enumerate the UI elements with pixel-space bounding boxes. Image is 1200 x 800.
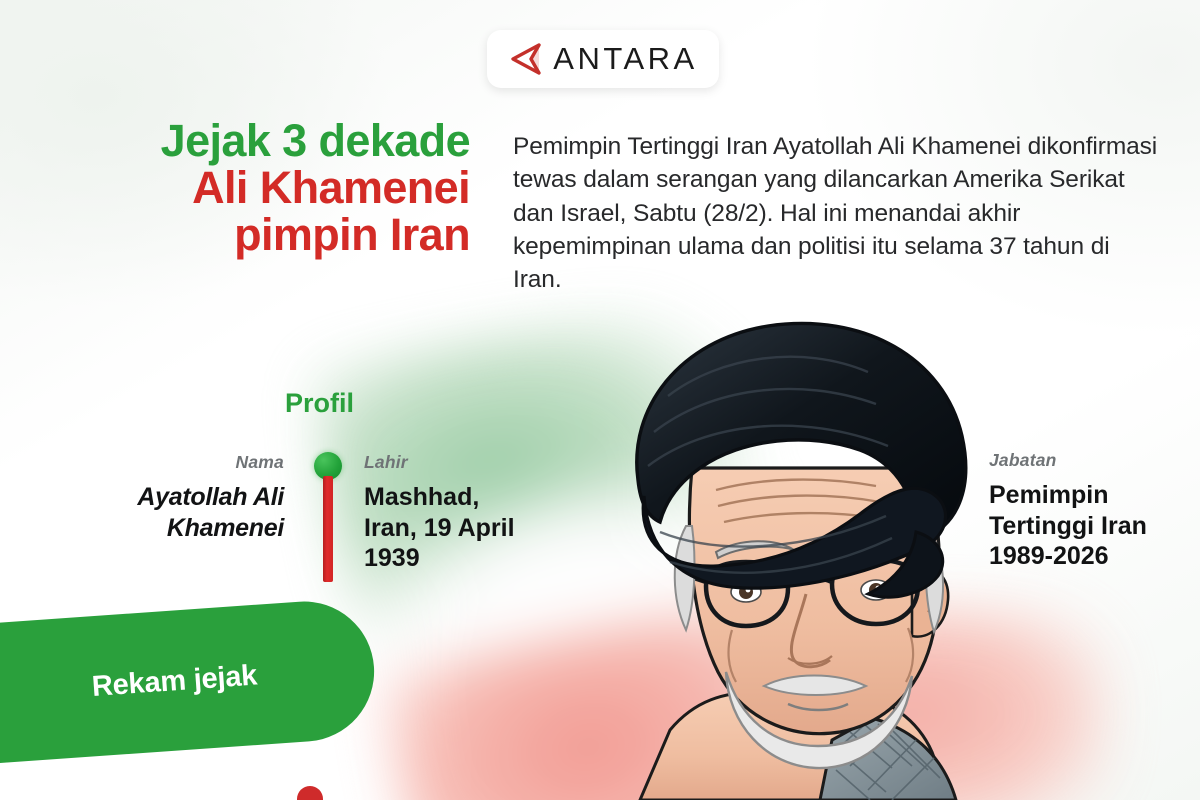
antara-wordmark: ANTARA (553, 41, 697, 77)
profile-label-nama: Nama (36, 452, 284, 473)
antara-logo-badge[interactable]: ANTARA (487, 30, 719, 88)
headline-line-1: Jejak 3 dekade (20, 118, 470, 165)
profile-label-jabatan: Jabatan (989, 450, 1189, 471)
profile-value-nama: Ayatollah Ali Khamenei (36, 482, 284, 543)
profile-value-lahir: Mashhad, Iran, 19 April 1939 (364, 482, 534, 574)
profile-field-nama: Nama Ayatollah Ali Khamenei (36, 452, 284, 543)
profile-field-jabatan: Jabatan Pemimpin Tertinggi Iran 1989-202… (989, 450, 1189, 572)
infographic-canvas: ANTARA Jejak 3 dekade Ali Khamenei pimpi… (0, 0, 1200, 800)
page-title: Jejak 3 dekade Ali Khamenei pimpin Iran (20, 118, 470, 258)
green-dot-pin-icon (310, 452, 344, 582)
pin-stem (323, 476, 333, 582)
lead-paragraph: Pemimpin Tertinggi Iran Ayatollah Ali Kh… (513, 130, 1161, 297)
headline-line-2: Ali Khamenei (20, 165, 470, 212)
headline-line-3: pimpin Iran (20, 212, 470, 259)
profile-heading: Profil (285, 388, 354, 419)
antara-triangle-logo-icon (508, 43, 542, 75)
profile-label-lahir: Lahir (364, 452, 534, 473)
profile-value-jabatan: Pemimpin Tertinggi Iran 1989-2026 (989, 480, 1189, 572)
profile-field-lahir: Lahir Mashhad, Iran, 19 April 1939 (364, 452, 534, 574)
ali-khamenei-portrait-illustration (520, 300, 1040, 800)
timeline-bullet-icon (297, 786, 323, 800)
